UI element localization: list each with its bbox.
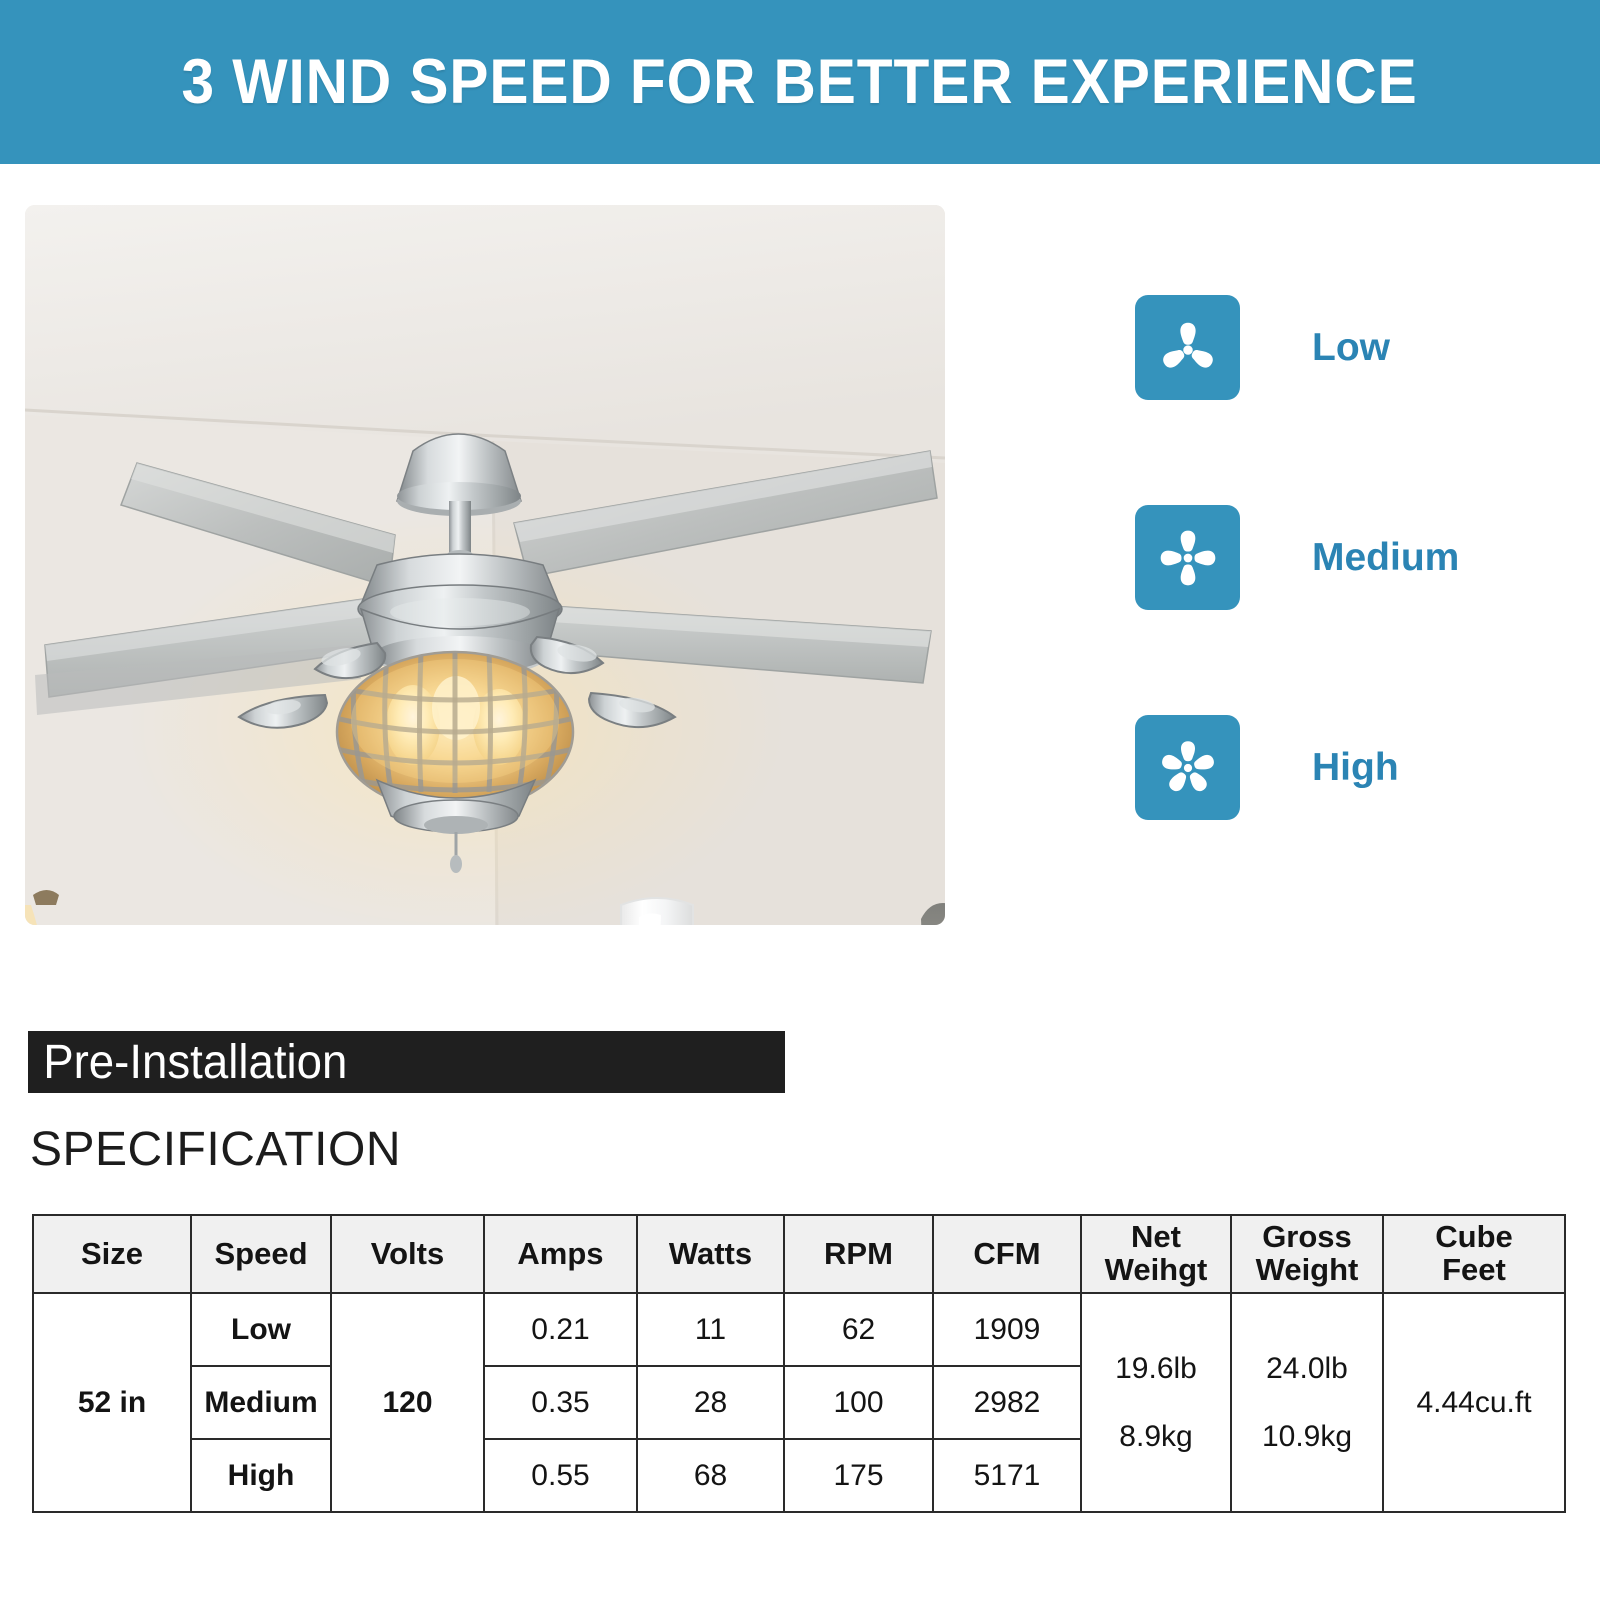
fan-3-blade-icon: [1135, 295, 1240, 400]
cell-cfm-low: 1909: [933, 1293, 1081, 1366]
fan-3-blade-glyph: [1155, 315, 1221, 381]
gross-weight-kg: 10.9kg: [1262, 1420, 1352, 1454]
cell-amps-high: 0.55: [484, 1439, 637, 1512]
cell-cfm-high: 5171: [933, 1439, 1081, 1512]
fan-4-blade-glyph: [1155, 525, 1221, 591]
cell-speed-medium: Medium: [191, 1366, 331, 1439]
cell-size: 52 in: [33, 1293, 191, 1512]
cell-speed-low: Low: [191, 1293, 331, 1366]
table-row: 52 in Low 120 0.21 11 62 1909 19.6lb 8.9…: [33, 1293, 1565, 1366]
banner-title: 3 WIND SPEED FOR BETTER EXPERIENCE: [182, 46, 1418, 118]
net-weight-kg: 8.9kg: [1119, 1420, 1192, 1454]
speed-label-high: High: [1312, 746, 1399, 790]
speed-label-low: Low: [1312, 326, 1390, 370]
col-header-rpm: RPM: [784, 1215, 933, 1293]
speed-legend: Low Medium: [1135, 295, 1459, 820]
cube-feet-line2: Feet: [1442, 1252, 1506, 1287]
col-header-gross-weight: Gross Weight: [1231, 1215, 1383, 1293]
header-banner: 3 WIND SPEED FOR BETTER EXPERIENCE: [0, 0, 1600, 164]
cell-amps-medium: 0.35: [484, 1366, 637, 1439]
fan-5-blade-icon: [1135, 715, 1240, 820]
col-header-watts: Watts: [637, 1215, 784, 1293]
specification-heading: SPECIFICATION: [30, 1122, 401, 1177]
gross-weight-line1: Gross: [1262, 1219, 1352, 1254]
fan-5-blade-glyph: [1155, 735, 1221, 801]
cell-cube-feet: 4.44cu.ft: [1383, 1293, 1565, 1512]
gross-weight-line2: Weight: [1256, 1252, 1359, 1287]
fan-4-blade-icon: [1135, 505, 1240, 610]
col-header-net-weight: Net Weihgt: [1081, 1215, 1231, 1293]
net-weight-line1: Net: [1131, 1219, 1181, 1254]
cell-watts-medium: 28: [637, 1366, 784, 1439]
pre-installation-bar: Pre-Installation: [28, 1031, 785, 1093]
net-weight-line2: Weihgt: [1105, 1252, 1208, 1287]
net-weight-lb: 19.6lb: [1115, 1352, 1197, 1386]
cell-volts: 120: [331, 1293, 484, 1512]
product-infographic: 3 WIND SPEED FOR BETTER EXPERIENCE: [0, 0, 1600, 1600]
cell-watts-low: 11: [637, 1293, 784, 1366]
col-header-cfm: CFM: [933, 1215, 1081, 1293]
speed-item-low[interactable]: Low: [1135, 295, 1459, 400]
ceiling-fan-scene: [25, 205, 945, 925]
specification-table: Size Speed Volts Amps Watts RPM CFM Net …: [32, 1214, 1566, 1513]
cell-rpm-high: 175: [784, 1439, 933, 1512]
pre-installation-title: Pre-Installation: [28, 1035, 347, 1090]
table-header-row: Size Speed Volts Amps Watts RPM CFM Net …: [33, 1215, 1565, 1293]
gross-weight-lb: 24.0lb: [1266, 1352, 1348, 1386]
col-header-cube-feet: Cube Feet: [1383, 1215, 1565, 1293]
speed-label-medium: Medium: [1312, 536, 1459, 580]
cell-rpm-medium: 100: [784, 1366, 933, 1439]
product-photo: [25, 205, 945, 925]
cell-net-weight: 19.6lb 8.9kg: [1081, 1293, 1231, 1512]
speed-item-high[interactable]: High: [1135, 715, 1459, 820]
col-header-volts: Volts: [331, 1215, 484, 1293]
cube-feet-line1: Cube: [1435, 1219, 1513, 1254]
col-header-speed: Speed: [191, 1215, 331, 1293]
col-header-size: Size: [33, 1215, 191, 1293]
cell-rpm-low: 62: [784, 1293, 933, 1366]
cell-watts-high: 68: [637, 1439, 784, 1512]
cell-gross-weight: 24.0lb 10.9kg: [1231, 1293, 1383, 1512]
col-header-amps: Amps: [484, 1215, 637, 1293]
cell-cfm-medium: 2982: [933, 1366, 1081, 1439]
speed-item-medium[interactable]: Medium: [1135, 505, 1459, 610]
cell-amps-low: 0.21: [484, 1293, 637, 1366]
cell-speed-high: High: [191, 1439, 331, 1512]
